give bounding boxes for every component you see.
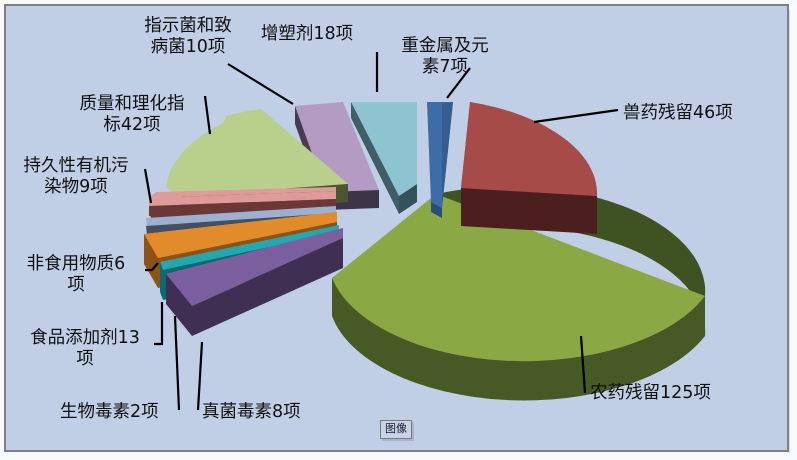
pie-slice-veterinary-drug[interactable] <box>461 102 597 234</box>
label-pesticide: 农药残留125项 <box>590 383 770 404</box>
label-biotoxin: 生物毒素2项 <box>60 402 188 423</box>
image-placeholder-badge: 图像 <box>380 420 412 439</box>
chart-frame: 指示菌和致 病菌10项 增塑剂18项 重金属及元 素7项 兽药残留46项 质量和… <box>4 4 789 452</box>
leader-indicator-bacteria <box>228 64 293 104</box>
label-mycotoxin: 真菌毒素8项 <box>202 402 332 423</box>
label-food-additive: 食品添加剂13 项 <box>12 328 158 370</box>
screenshot-root: 指示菌和致 病菌10项 增塑剂18项 重金属及元 素7项 兽药残留46项 质量和… <box>0 0 797 460</box>
leader-biotoxin <box>175 316 179 410</box>
label-quality-physchem: 质量和理化指 标42项 <box>54 94 210 136</box>
leader-veterinary-drug <box>534 110 618 122</box>
label-indicator-bacteria: 指示菌和致 病菌10项 <box>114 16 262 58</box>
label-non-food: 非食用物质6 项 <box>2 254 150 296</box>
label-heavy-metal: 重金属及元 素7项 <box>382 36 508 78</box>
leader-mycotoxin <box>198 342 202 410</box>
label-pop: 持久性有机污 染物9项 <box>4 156 148 198</box>
label-veterinary-drug: 兽药残留46项 <box>623 103 793 124</box>
label-plasticizer: 增塑剂18项 <box>242 24 372 45</box>
